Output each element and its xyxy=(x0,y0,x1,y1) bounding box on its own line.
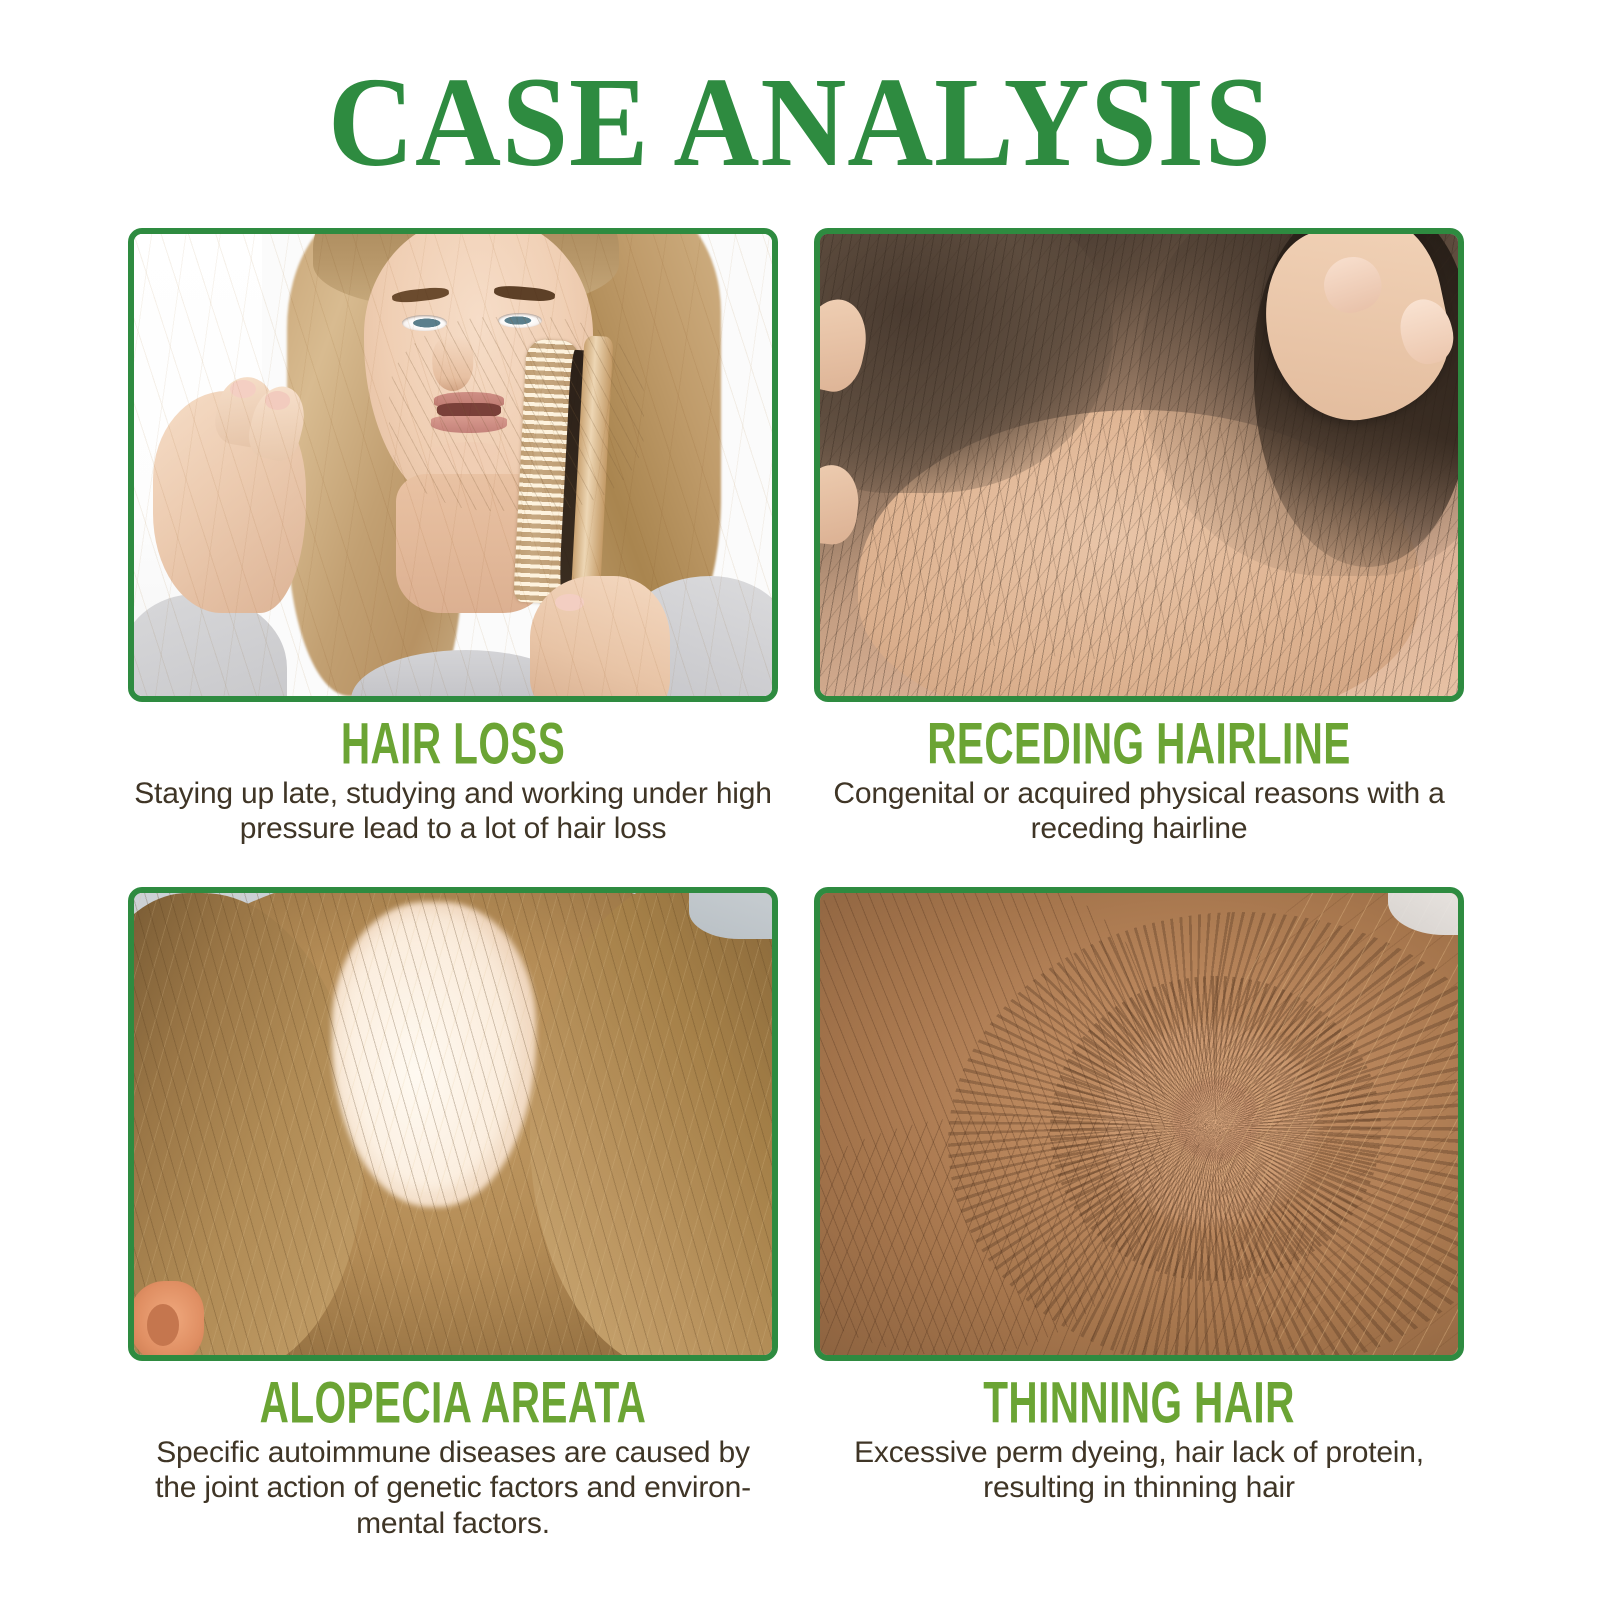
case-card-thinning-hair[interactable]: THINNING HAIR Excessive perm dyeing, hai… xyxy=(814,887,1464,1558)
case-image-thinning-hair xyxy=(814,887,1464,1361)
case-card-receding-hairline[interactable]: RECEDING HAIRLINE Congenital or acquired… xyxy=(814,228,1464,863)
case-card-hair-loss[interactable]: HAIR LOSS Staying up late, studying and … xyxy=(128,228,778,863)
case-label-alopecia-areata: ALOPECIA AREATA xyxy=(200,1373,707,1434)
case-image-receding-hairline xyxy=(814,228,1464,702)
case-description-receding-hairline: Congenital or acquired physical reasons … xyxy=(814,776,1464,847)
case-label-thinning-hair: THINNING HAIR xyxy=(886,1373,1393,1434)
case-description-thinning-hair: Excessive perm dyeing, hair lack of prot… xyxy=(814,1435,1464,1506)
page-title: CASE ANALYSIS xyxy=(56,58,1544,186)
case-image-hair-loss xyxy=(128,228,778,702)
case-grid: HAIR LOSS Staying up late, studying and … xyxy=(128,228,1464,1558)
case-image-alopecia-areata xyxy=(128,887,778,1361)
photo-receding-hairline-scalp xyxy=(820,234,1458,696)
photo-woman-with-hairbrush xyxy=(134,234,772,696)
case-description-alopecia-areata: Specific autoimmune diseases are caused … xyxy=(128,1435,778,1542)
case-label-receding-hairline: RECEDING HAIRLINE xyxy=(886,714,1393,775)
case-description-hair-loss: Staying up late, studying and working un… xyxy=(128,776,778,847)
case-analysis-poster: CASE ANALYSIS xyxy=(0,0,1600,1600)
case-card-alopecia-areata[interactable]: ALOPECIA AREATA Specific autoimmune dise… xyxy=(128,887,778,1558)
case-label-hair-loss: HAIR LOSS xyxy=(200,714,707,775)
photo-thinning-hair-crown xyxy=(820,893,1458,1355)
photo-alopecia-bald-patch xyxy=(134,893,772,1355)
